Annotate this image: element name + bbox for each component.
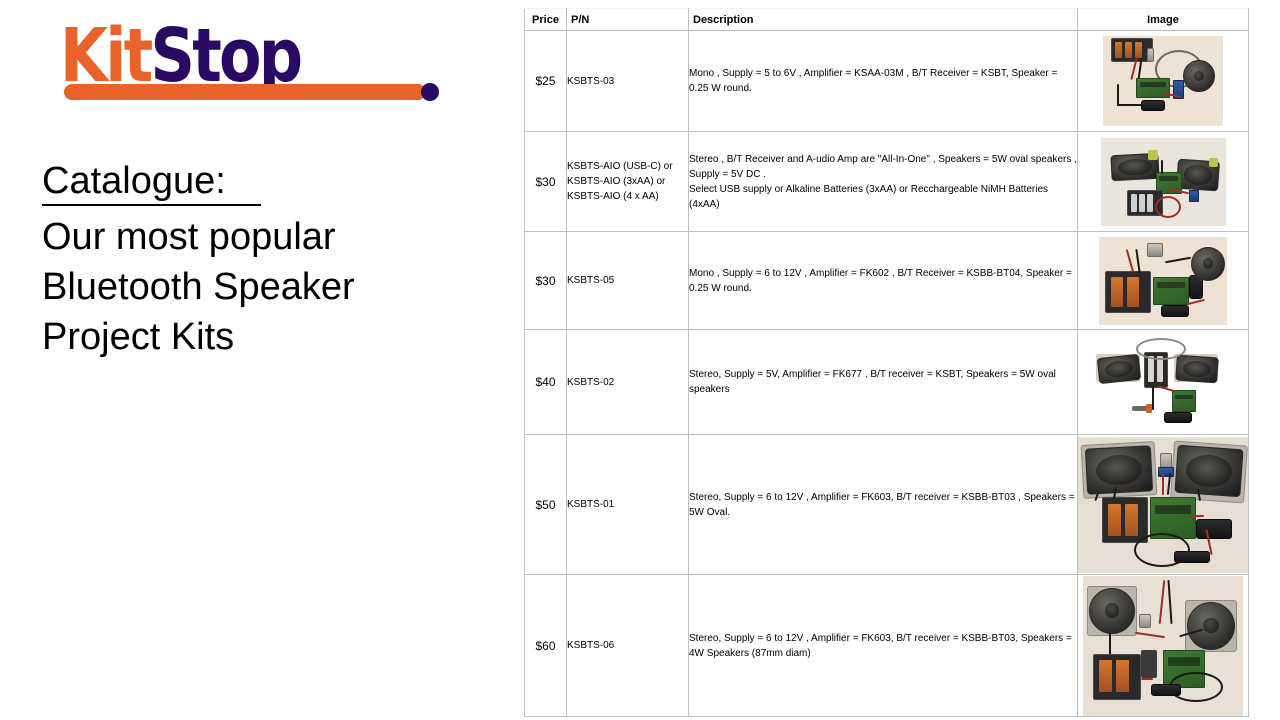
product-photo bbox=[1103, 36, 1223, 126]
cell-pn: KSBTS-01 bbox=[567, 435, 689, 575]
cell-pn: KSBTS-03 bbox=[567, 31, 689, 132]
cell-price: $30 bbox=[525, 132, 567, 232]
cell-description: Stereo , B/T Receiver and A-udio Amp are… bbox=[689, 132, 1078, 232]
cell-description: Stereo, Supply = 5V, Amplifier = FK677 ,… bbox=[689, 330, 1078, 435]
cell-image bbox=[1078, 330, 1249, 435]
cell-image bbox=[1078, 31, 1249, 132]
page-title: Catalogue: bbox=[42, 158, 261, 206]
cell-price: $25 bbox=[525, 31, 567, 132]
cell-image bbox=[1078, 575, 1249, 717]
column-header-pn: P/N bbox=[567, 9, 689, 31]
table-row: $60 KSBTS-06 Stereo, Supply = 6 to 12V ,… bbox=[525, 575, 1249, 717]
catalogue-table: Price P/N Description Image $25 KSBTS-03… bbox=[524, 8, 1249, 717]
table-row: $30 KSBTS-05 Mono , Supply = 6 to 12V , … bbox=[525, 232, 1249, 330]
product-photo bbox=[1099, 237, 1227, 325]
title-panel: KitStop Catalogue: Our most popular Blue… bbox=[0, 0, 515, 720]
column-header-image: Image bbox=[1078, 9, 1249, 31]
product-photo bbox=[1078, 437, 1248, 573]
page-subtitle: Our most popular Bluetooth Speaker Proje… bbox=[42, 212, 502, 362]
product-photo bbox=[1088, 336, 1238, 428]
cell-description: Stereo, Supply = 6 to 12V , Amplifier = … bbox=[689, 575, 1078, 717]
logo-dot bbox=[421, 83, 439, 101]
product-photo bbox=[1083, 576, 1243, 716]
cell-pn: KSBTS-05 bbox=[567, 232, 689, 330]
cell-image bbox=[1078, 132, 1249, 232]
kitstop-logo: KitStop bbox=[60, 22, 440, 114]
cell-pn: KSBTS-AIO (USB-C) or KSBTS-AIO (3xAA) or… bbox=[567, 132, 689, 232]
table-row: $40 KSBTS-02 Stereo, Supply = 5V, Amplif… bbox=[525, 330, 1249, 435]
cell-price: $40 bbox=[525, 330, 567, 435]
table-row: $50 KSBTS-01 Stereo, Supply = 6 to 12V ,… bbox=[525, 435, 1249, 575]
cell-image bbox=[1078, 232, 1249, 330]
cell-description: Mono , Supply = 6 to 12V , Amplifier = F… bbox=[689, 232, 1078, 330]
product-photo bbox=[1101, 138, 1226, 226]
cell-description: Stereo, Supply = 6 to 12V , Amplifier = … bbox=[689, 435, 1078, 575]
cell-description: Mono , Supply = 5 to 6V , Amplifier = KS… bbox=[689, 31, 1078, 132]
logo-underline-bar bbox=[64, 84, 426, 100]
column-header-price: Price bbox=[525, 9, 567, 31]
cell-price: $30 bbox=[525, 232, 567, 330]
column-header-description: Description bbox=[689, 9, 1078, 31]
table-row: $30 KSBTS-AIO (USB-C) or KSBTS-AIO (3xAA… bbox=[525, 132, 1249, 232]
table-row: $25 KSBTS-03 Mono , Supply = 5 to 6V , A… bbox=[525, 31, 1249, 132]
headline-block: Catalogue: Our most popular Bluetooth Sp… bbox=[42, 158, 502, 362]
cell-pn: KSBTS-06 bbox=[567, 575, 689, 717]
cell-image bbox=[1078, 435, 1249, 575]
table-header-row: Price P/N Description Image bbox=[525, 9, 1249, 31]
cell-price: $50 bbox=[525, 435, 567, 575]
cell-price: $60 bbox=[525, 575, 567, 717]
cell-pn: KSBTS-02 bbox=[567, 330, 689, 435]
